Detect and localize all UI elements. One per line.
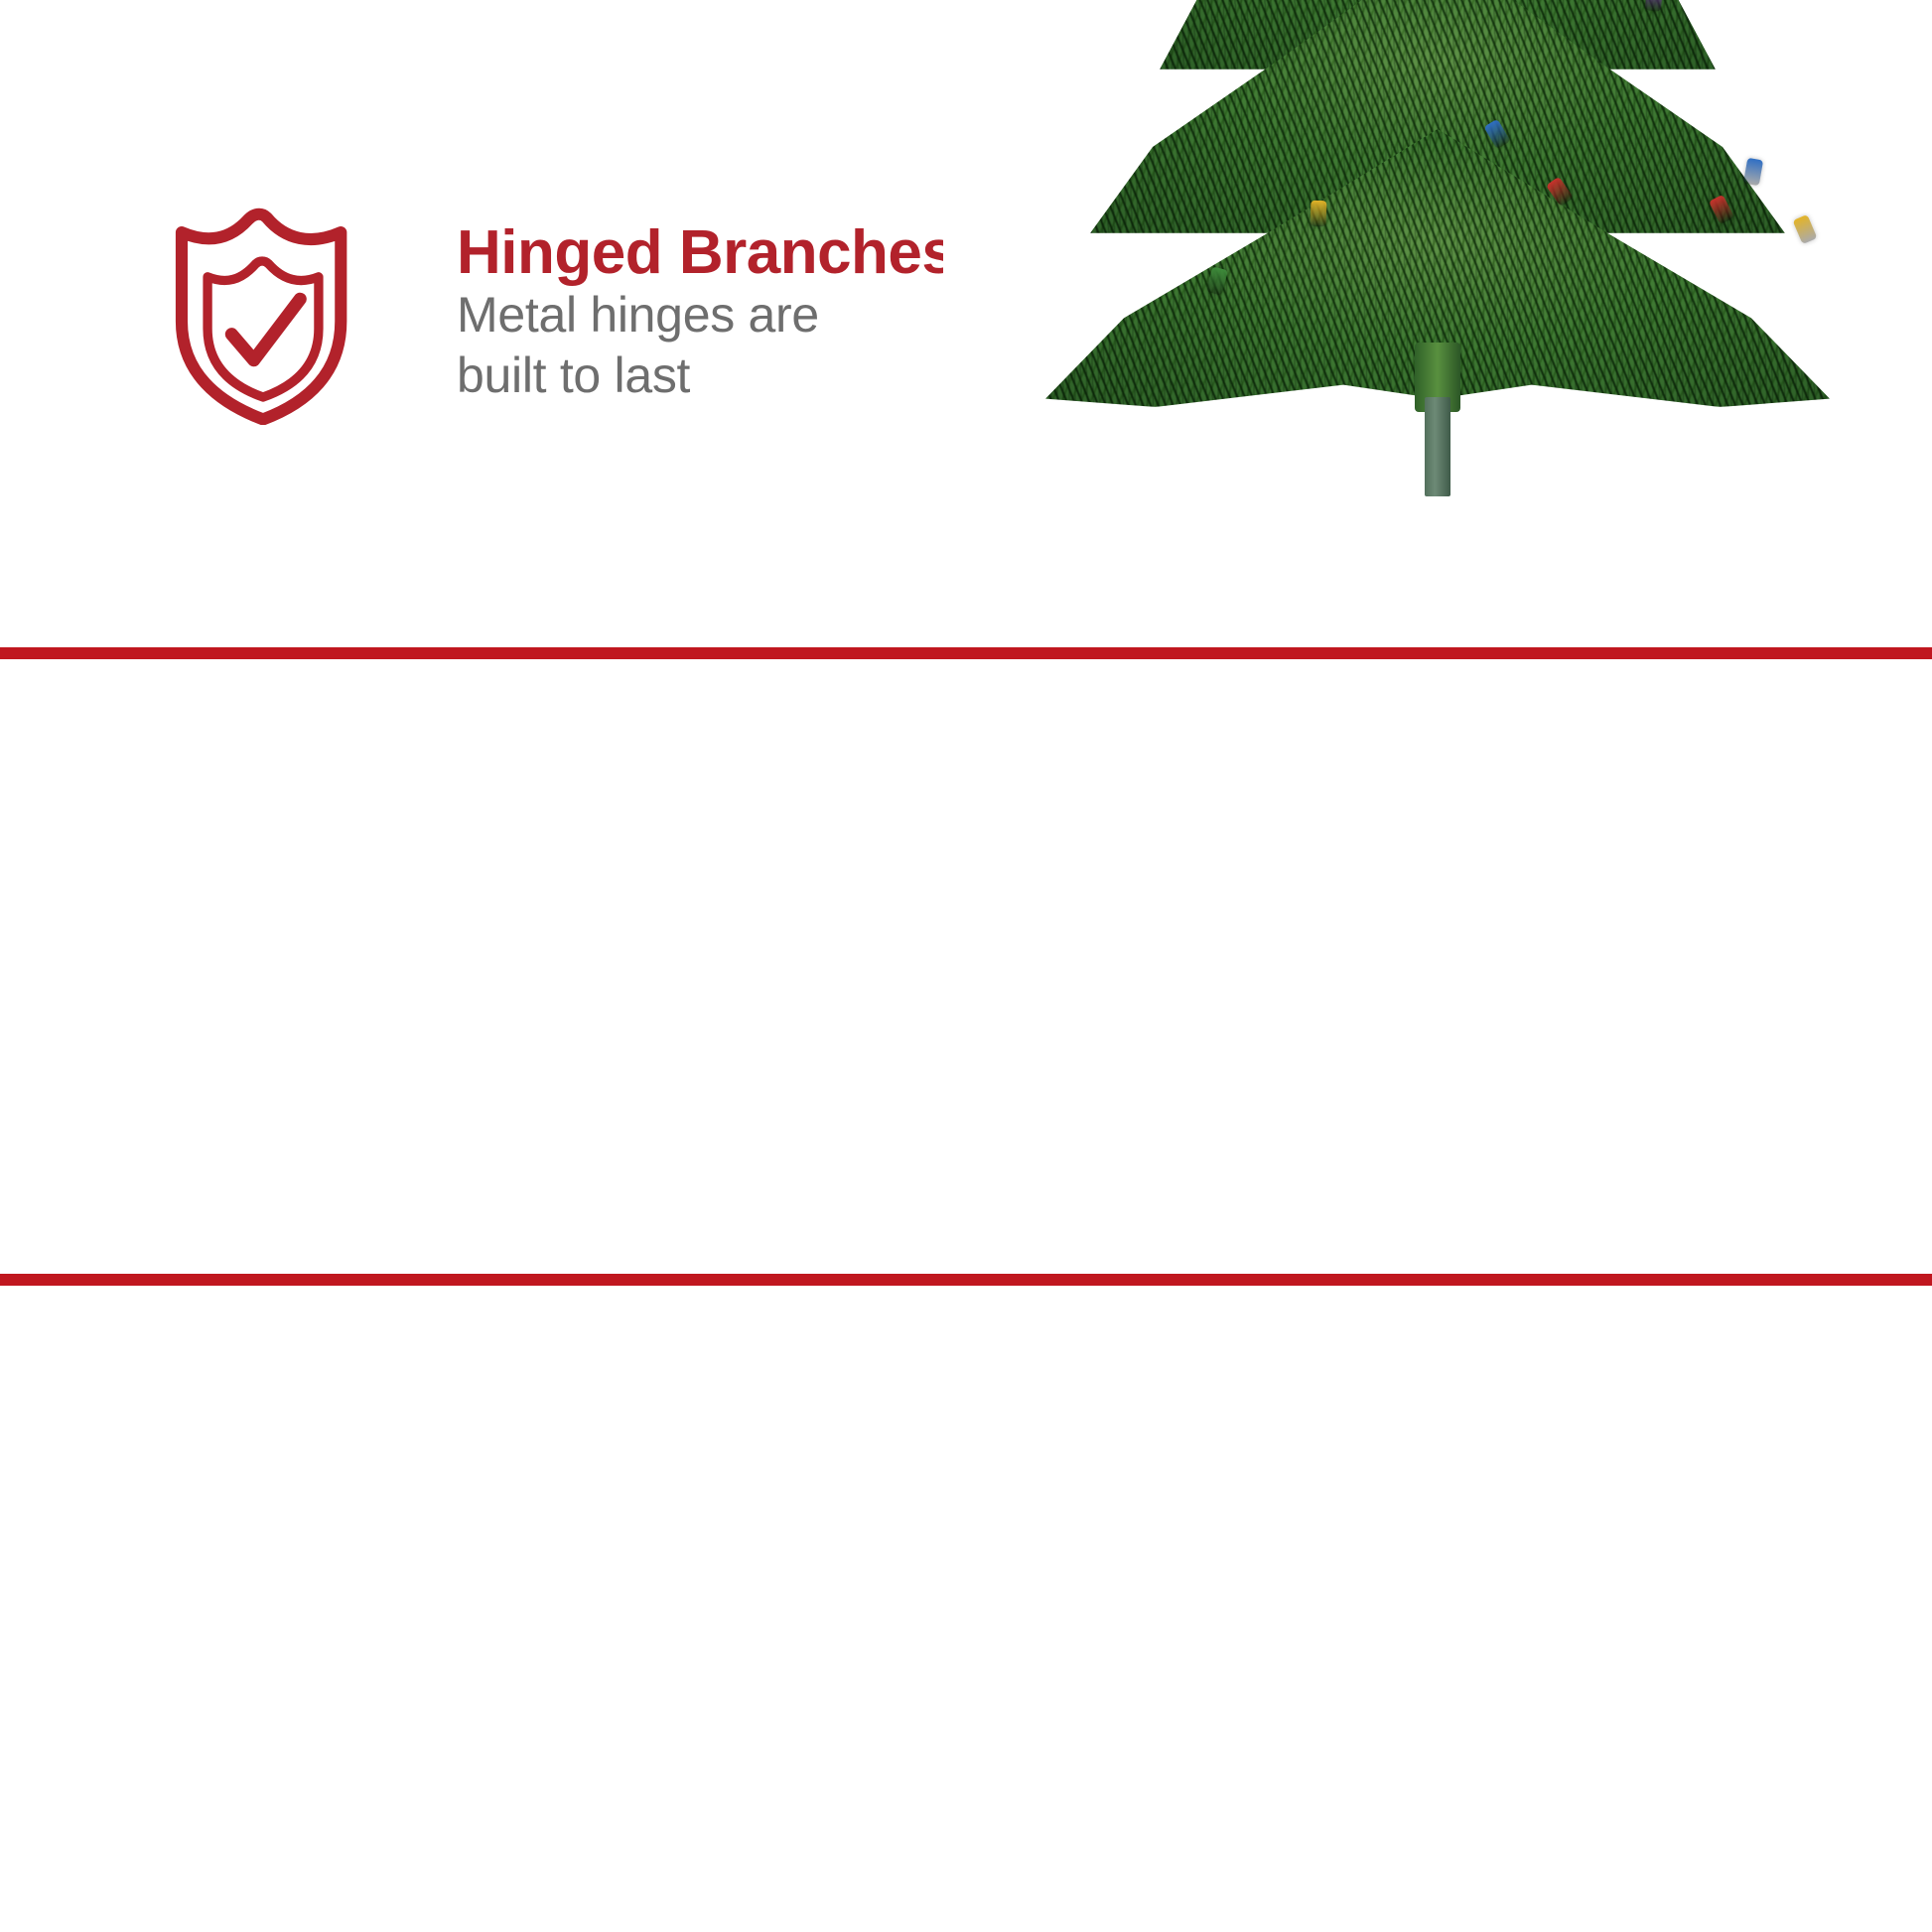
shield-check-icon: [169, 207, 357, 425]
hinged-branches-subline-line2: built to last: [457, 345, 955, 406]
tree-light-bulb: [1311, 201, 1327, 227]
tree-center-pole: [1425, 397, 1450, 496]
panel-sturdy-base: Sturdy Base A reliable metal stand for y…: [0, 1286, 1932, 1932]
divider-line-top: [0, 647, 1932, 659]
tree-light-bulb: [1793, 214, 1818, 244]
product-feature-infographic: Hinged Branches Metal hinges are built t…: [0, 0, 1932, 1932]
tree-illustration: [1050, 0, 1825, 506]
hinged-branches-subline: Metal hinges are built to last: [457, 285, 955, 406]
panel-hinged-branches: Hinged Branches Metal hinges are built t…: [0, 0, 1932, 650]
hinged-branches-text: Hinged Branches Metal hinges are built t…: [457, 220, 955, 406]
divider-line-bottom: [0, 1274, 1932, 1286]
photo-bare-tree-bottom: [943, 0, 1932, 650]
hinged-branches-subline-line1: Metal hinges are: [457, 285, 955, 345]
hinged-branches-headline: Hinged Branches: [457, 220, 955, 285]
tree-light-bulb: [1743, 158, 1763, 186]
panel-pvc-tips: PVC Tips Flame-retardant and easy to flu…: [0, 660, 1932, 1274]
